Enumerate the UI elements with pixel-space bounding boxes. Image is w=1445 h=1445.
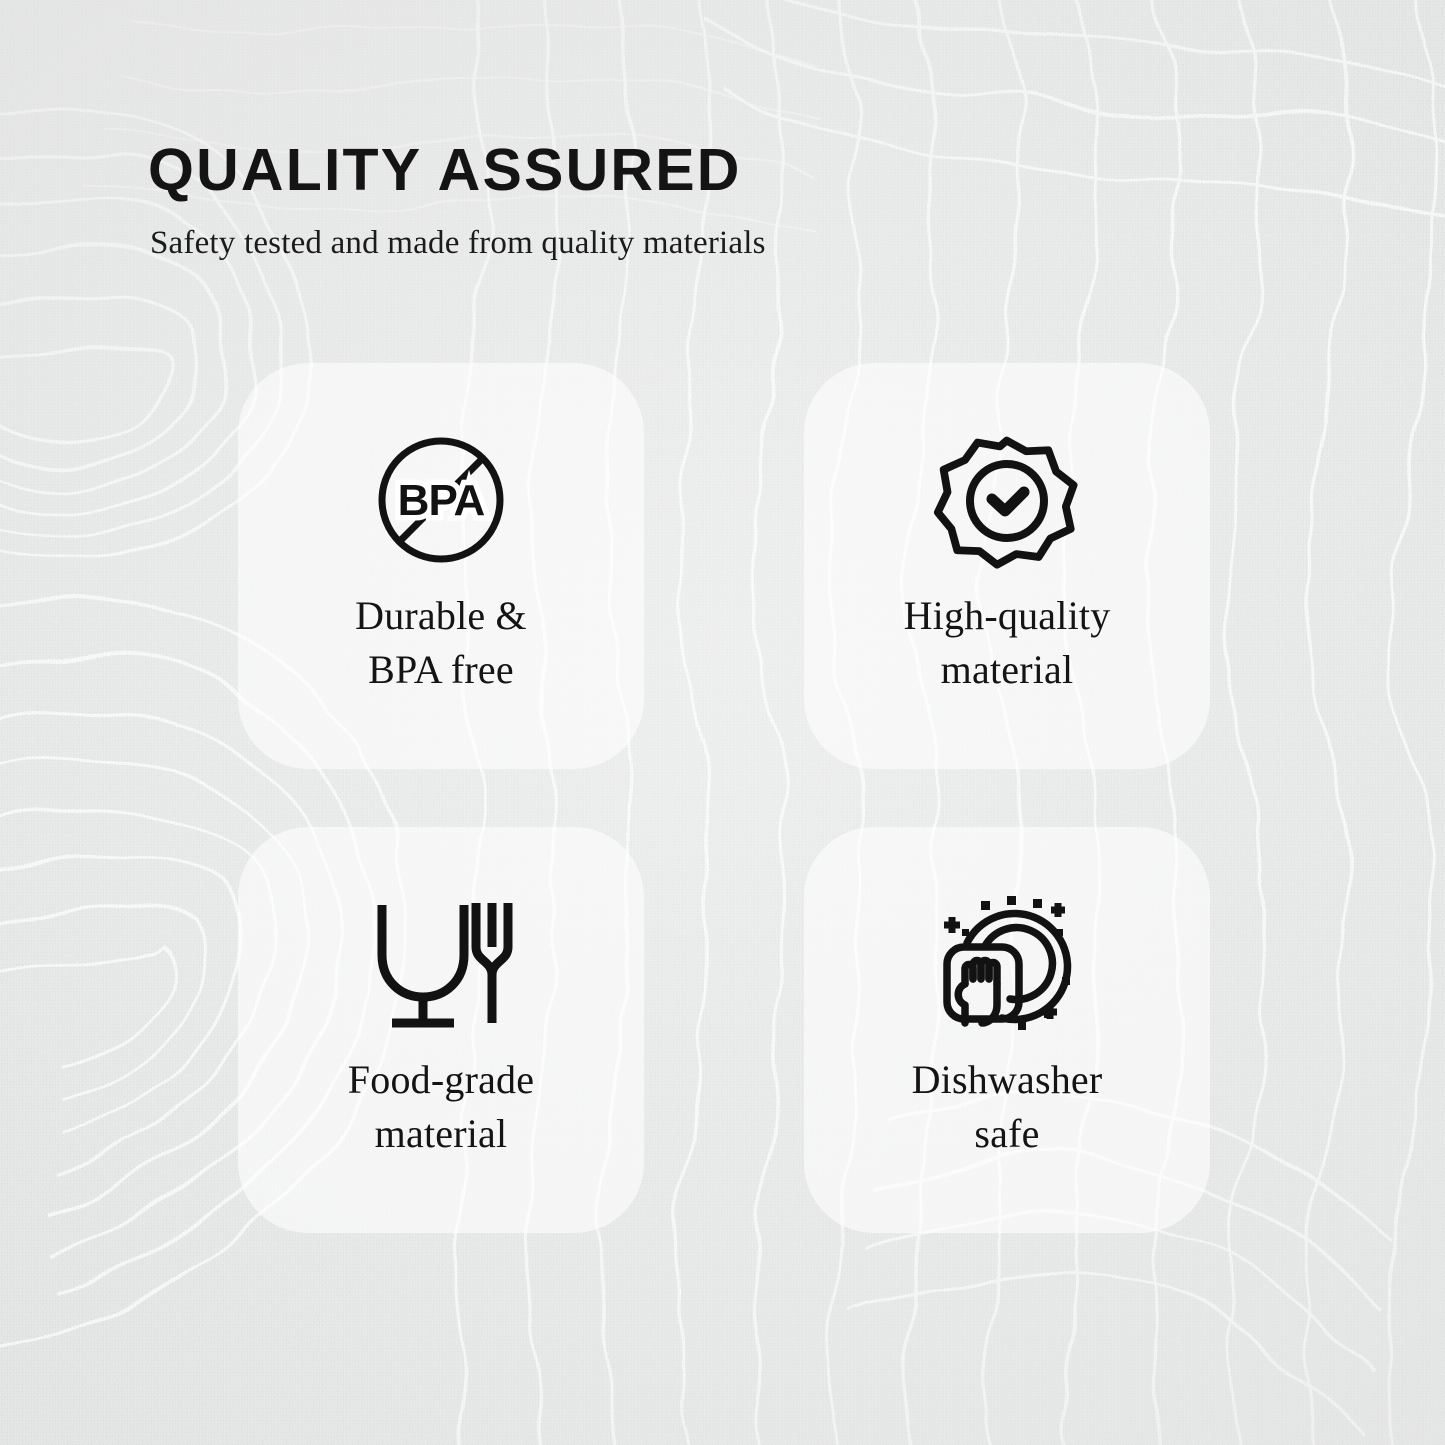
feature-card-label: Dishwasher safe [898,1053,1117,1162]
feature-card-label: Food-grade material [334,1053,548,1162]
bpa-icon-label: BPA [398,476,485,525]
feature-label-line1: Food-grade [348,1057,534,1102]
page-subtitle: Safety tested and made from quality mate… [150,224,1308,264]
feature-label-line1: Dishwasher [912,1057,1103,1102]
feature-card-grid: BPA Durable & BPA free [238,363,1210,1233]
bpa-free-icon: BPA [366,425,516,575]
header-block: QUALITY ASSURED Safety tested and made f… [148,140,1308,264]
feature-card-food-grade-material[interactable]: Food-grade material [238,827,644,1233]
food-grade-glass-fork-icon [366,889,516,1039]
feature-card-bpa-free[interactable]: BPA Durable & BPA free [238,363,644,769]
infographic-canvas: QUALITY ASSURED Safety tested and made f… [0,0,1445,1445]
feature-card-high-quality-material[interactable]: High-quality material [804,363,1210,769]
dishwasher-safe-icon [932,889,1082,1039]
page-title: QUALITY ASSURED [148,140,1308,202]
feature-label-line2: material [348,1107,534,1161]
feature-label-line2: material [904,643,1111,697]
feature-label-line1: Durable & [355,593,527,638]
quality-badge-check-icon [932,425,1082,575]
feature-card-label: High-quality material [890,589,1125,698]
feature-label-line2: safe [912,1107,1103,1161]
feature-card-dishwasher-safe[interactable]: Dishwasher safe [804,827,1210,1233]
feature-label-line2: BPA free [355,643,527,697]
feature-card-label: Durable & BPA free [341,589,541,698]
feature-label-line1: High-quality [904,593,1111,638]
